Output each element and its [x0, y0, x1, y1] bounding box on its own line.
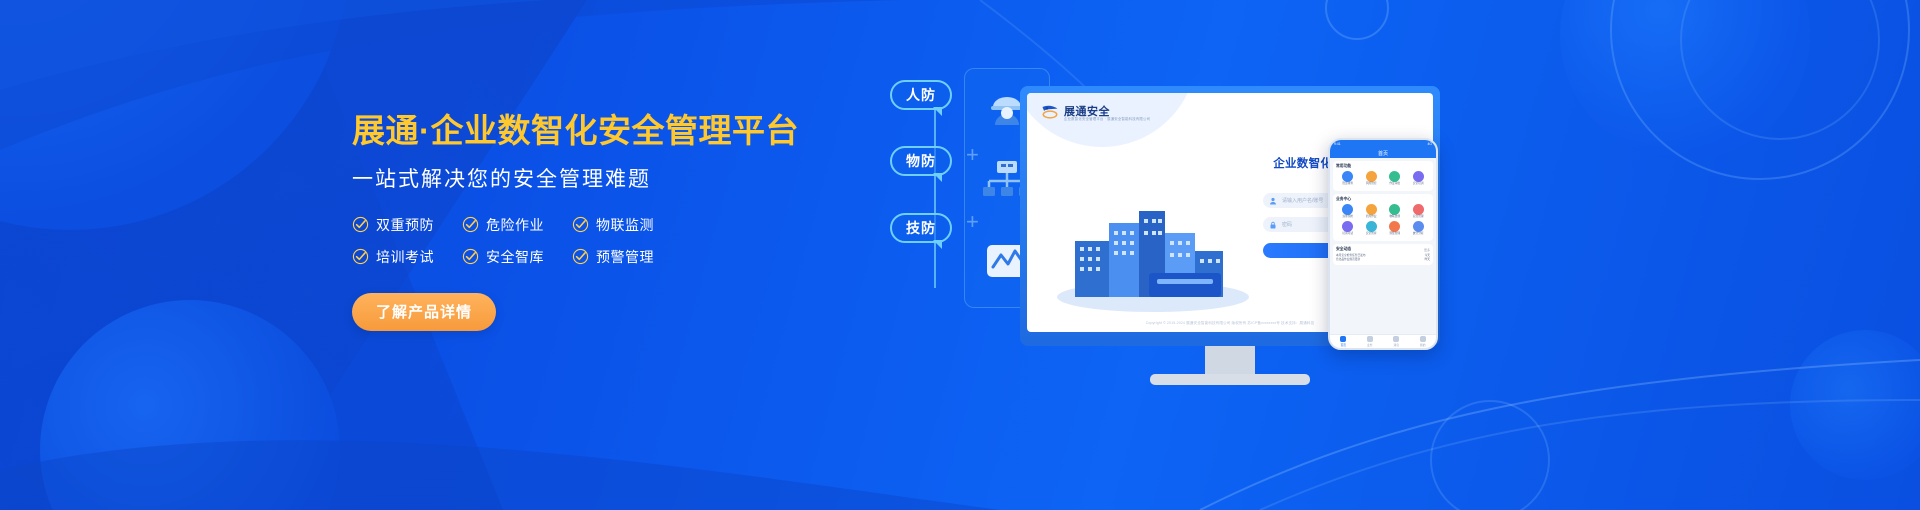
phone-tab-bar: 首页 业务 消息 我的	[1330, 334, 1436, 348]
tab-label: 消息	[1393, 343, 1399, 347]
user-icon	[1420, 336, 1426, 342]
badge-renfang: 人防	[890, 80, 952, 110]
tile-label: 预警管理	[1383, 233, 1407, 236]
tile-icon	[1389, 221, 1400, 232]
learn-more-button[interactable]: 了解产品详情	[352, 293, 496, 331]
feature-row: 培训考试 安全智库 预警管理	[352, 247, 682, 267]
status-signal: 4G	[1427, 142, 1432, 146]
status-time: 9:41	[1334, 142, 1341, 146]
bell-icon	[1393, 336, 1399, 342]
chain-connector	[934, 110, 936, 288]
app-tile[interactable]: 隐患排查	[1336, 171, 1360, 186]
tile-label: 风险管控	[1360, 183, 1384, 186]
tile-icon	[1366, 204, 1377, 215]
feature-item-5: 预警管理	[572, 247, 682, 267]
feature-item-1: 危险作业	[462, 215, 572, 235]
monitor-neck	[1205, 346, 1255, 376]
tile-label: 隐患排查	[1336, 183, 1360, 186]
tab-label: 首页	[1340, 343, 1346, 347]
hero-banner: 展通·企业数智化安全管理平台 一站式解决您的安全管理难题 双重预防 危险作业	[0, 0, 1920, 510]
check-circle-icon	[462, 216, 479, 233]
app-tile[interactable]: 物联监测	[1383, 204, 1407, 219]
app-tile[interactable]: 安全培训	[1407, 171, 1431, 186]
app-tile[interactable]: 应急管理	[1407, 204, 1431, 219]
app-tile[interactable]: 安全智库	[1360, 221, 1384, 236]
tab-label: 我的	[1420, 343, 1426, 347]
badge-label: 技防	[906, 218, 936, 238]
tile-icon	[1342, 221, 1353, 232]
feature-item-0: 双重预防	[352, 215, 462, 235]
check-circle-icon	[352, 248, 369, 265]
feature-label: 物联监测	[596, 215, 654, 235]
tile-label: 培训考试	[1336, 233, 1360, 236]
hero-copy: 展通·企业数智化安全管理平台 一站式解决您的安全管理难题 双重预防 危险作业	[352, 112, 822, 331]
app-logo-subtext: 企业数智化安全管理平台 · 展通安全智能科技有限公司	[1064, 116, 1150, 121]
feature-row: 双重预防 危险作业 物联监测	[352, 215, 682, 235]
user-icon	[1269, 197, 1277, 205]
phone-nav-title: 首页	[1330, 148, 1436, 158]
app-tile[interactable]: 双重预防	[1336, 204, 1360, 219]
tile-label: 统计分析	[1407, 233, 1431, 236]
grid-icon	[1367, 336, 1373, 342]
tile-label: 双重预防	[1336, 216, 1360, 219]
zhantong-logo-icon	[1041, 104, 1059, 119]
password-placeholder: 密码	[1282, 221, 1292, 228]
app-tile[interactable]: 预警管理	[1383, 221, 1407, 236]
notice-item[interactable]: 危化品作业规范更新 昨天	[1336, 259, 1430, 262]
tile-label: 应急管理	[1407, 216, 1431, 219]
badge-jifang: 技防	[890, 213, 952, 243]
city-illustration	[1053, 189, 1253, 314]
phone-section-business: 业务中心 双重预防 危险作业 物联监测	[1333, 194, 1433, 241]
notice-title: 安全动态	[1336, 247, 1351, 252]
tile-icon	[1342, 204, 1353, 215]
feature-label: 预警管理	[596, 247, 654, 267]
phone-status-bar: 9:41 4G	[1330, 140, 1436, 148]
check-circle-icon	[572, 248, 589, 265]
tab-home[interactable]: 首页	[1330, 335, 1357, 348]
badge-label: 人防	[906, 85, 936, 105]
tile-icon	[1366, 171, 1377, 182]
notice-meta: 昨天	[1425, 259, 1430, 262]
feature-label: 双重预防	[376, 215, 434, 235]
check-circle-icon	[352, 216, 369, 233]
tile-icon	[1366, 221, 1377, 232]
section-title: 常用功能	[1336, 164, 1430, 169]
notice-more-link[interactable]: 更多	[1424, 248, 1430, 252]
tile-icon	[1413, 221, 1424, 232]
tile-label: 作业审批	[1383, 183, 1407, 186]
monitor-base	[1150, 374, 1310, 385]
app-tile[interactable]: 作业审批	[1383, 171, 1407, 186]
check-circle-icon	[572, 216, 589, 233]
tile-icon	[1389, 171, 1400, 182]
app-tile[interactable]: 危险作业	[1360, 204, 1384, 219]
notice-label: 危化品作业规范更新	[1336, 259, 1360, 262]
tile-icon	[1342, 171, 1353, 182]
tab-label: 业务	[1367, 343, 1373, 347]
feature-item-4: 安全智库	[462, 247, 572, 267]
feature-label: 危险作业	[486, 215, 544, 235]
mobile-app-mockup: 9:41 4G 首页 常用功能 隐患排查 风险管控	[1328, 138, 1438, 350]
feature-label: 培训考试	[376, 247, 434, 267]
tile-label: 安全培训	[1407, 183, 1431, 186]
check-circle-icon	[462, 248, 479, 265]
tab-profile[interactable]: 我的	[1410, 335, 1437, 348]
tile-label: 安全智库	[1360, 233, 1384, 236]
tile-icon	[1413, 204, 1424, 215]
badge-label: 物防	[906, 151, 936, 171]
feature-item-3: 培训考试	[352, 247, 462, 267]
feature-list: 双重预防 危险作业 物联监测	[352, 215, 682, 267]
app-tile[interactable]: 风险管控	[1360, 171, 1384, 186]
tile-label: 物联监测	[1383, 216, 1407, 219]
phone-body: 常用功能 隐患排查 风险管控 作业审批	[1330, 158, 1436, 271]
page-subtitle: 一站式解决您的安全管理难题	[352, 163, 822, 193]
page-title: 展通·企业数智化安全管理平台	[352, 112, 822, 151]
phone-section-notice: 安全动态 更多 本月安全检查任务已发布 今天 危化品作业规范更新 昨天	[1333, 244, 1433, 265]
feature-label: 安全智库	[486, 247, 544, 267]
tab-business[interactable]: 业务	[1357, 335, 1384, 348]
badge-wufang: 物防	[890, 146, 952, 176]
app-tile[interactable]: 培训考试	[1336, 221, 1360, 236]
lock-icon	[1269, 221, 1277, 229]
product-illustration: 人防 物防 技防 + +	[880, 60, 1880, 460]
home-icon	[1340, 336, 1346, 342]
tile-icon	[1389, 204, 1400, 215]
section-title: 业务中心	[1336, 197, 1430, 202]
phone-section-common: 常用功能 隐患排查 风险管控 作业审批	[1333, 161, 1433, 191]
feature-item-2: 物联监测	[572, 215, 682, 235]
app-tile[interactable]: 统计分析	[1407, 221, 1431, 236]
username-placeholder: 请输入用户名/账号	[1282, 197, 1323, 204]
tab-message[interactable]: 消息	[1383, 335, 1410, 348]
tile-icon	[1413, 171, 1424, 182]
tile-label: 危险作业	[1360, 216, 1384, 219]
